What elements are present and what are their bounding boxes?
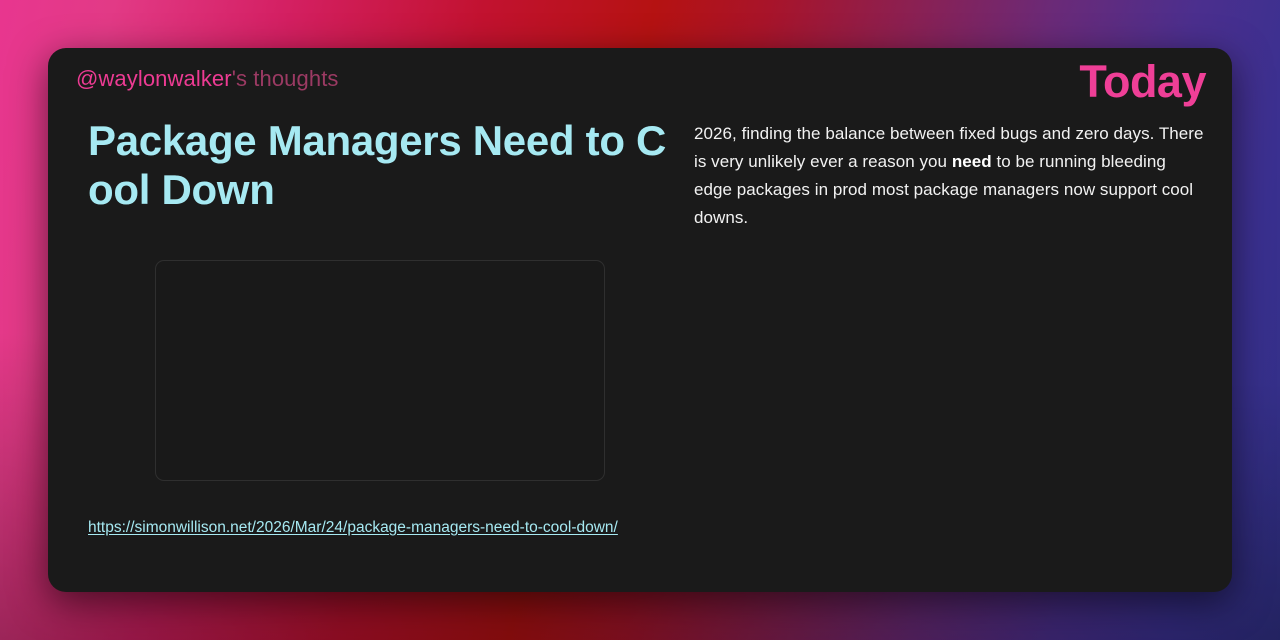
author-byline: @waylonwalker's thoughts <box>76 64 339 94</box>
source-url-link[interactable]: https://simonwillison.net/2026/Mar/24/pa… <box>88 519 618 536</box>
post-title: Package Managers Need to Cool Down <box>88 116 680 214</box>
thought-card: @waylonwalker's thoughts Today Package M… <box>48 48 1232 592</box>
card-header: @waylonwalker's thoughts Today <box>68 62 1206 108</box>
post-excerpt: 2026, finding the balance between fixed … <box>694 120 1204 232</box>
post-thumbnail-placeholder <box>155 260 605 481</box>
social-share-card-frame: @waylonwalker's thoughts Today Package M… <box>0 0 1280 640</box>
card-right-column: 2026, finding the balance between fixed … <box>680 114 1206 232</box>
author-byline-suffix: 's thoughts <box>232 66 339 91</box>
card-body: Package Managers Need to Cool Down 2026,… <box>68 114 1206 481</box>
author-handle[interactable]: @waylonwalker <box>76 66 232 91</box>
source-link-row: https://simonwillison.net/2026/Mar/24/pa… <box>68 518 1206 538</box>
card-left-column: Package Managers Need to Cool Down <box>68 114 680 481</box>
post-excerpt-emphasis: need <box>952 152 992 171</box>
date-badge: Today <box>1079 52 1206 112</box>
